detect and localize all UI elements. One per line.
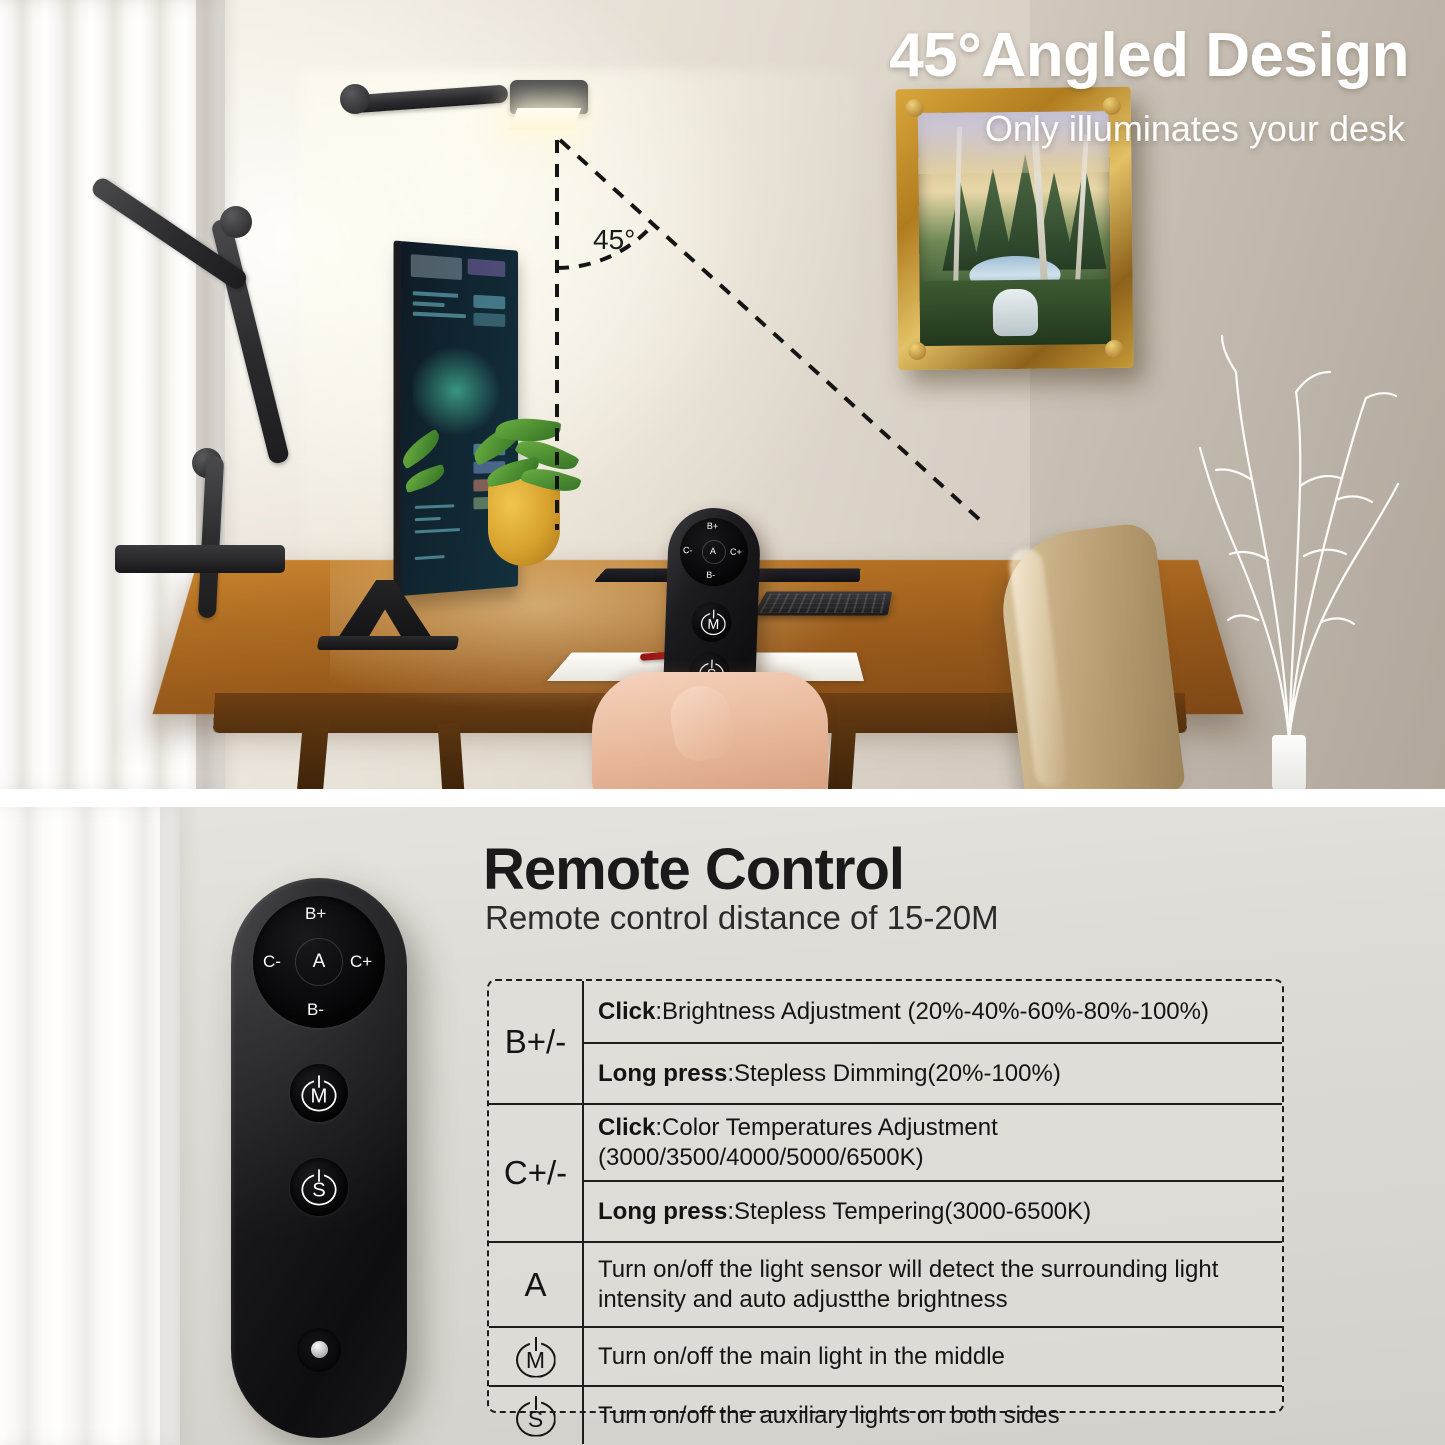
- remote-button-aux-light[interactable]: S: [290, 1158, 348, 1216]
- main-light-icon: M: [699, 607, 725, 636]
- row-text: :Brightness Adjustment (20%-40%-60%-80%-…: [655, 998, 1209, 1025]
- row-text: Turn on/off the light sensor will detect…: [598, 1256, 1218, 1312]
- row-prefix: Long press: [598, 1060, 727, 1087]
- remote-button-main-light[interactable]: M: [290, 1064, 348, 1122]
- lamp-joint-top: [340, 84, 370, 114]
- row-text: :Color Temperatures Adjustment (3000/350…: [598, 1114, 998, 1170]
- swing-arm-desk-lamp: [180, 60, 600, 680]
- remote-c-minus-label: C-: [683, 545, 693, 555]
- remote-control-device[interactable]: A B+ C- C+ B- M S: [231, 878, 407, 1438]
- table-row-key: B+/-: [489, 981, 584, 1103]
- remote-b-minus-label: B-: [706, 570, 715, 580]
- table-group: M Turn on/off the main light in the midd…: [489, 1326, 1282, 1385]
- lamp-arm-lower: [210, 218, 290, 465]
- bottom-curtain: [0, 807, 180, 1445]
- remote-button-c-plus[interactable]: C+: [350, 952, 372, 972]
- remote-a-label: A: [710, 546, 716, 556]
- bottom-title: Remote Control: [483, 836, 904, 903]
- lamp-led-glow: [509, 108, 582, 130]
- table-row: Turn on/off the light sensor will detect…: [584, 1243, 1282, 1326]
- row-prefix: Long press: [598, 1198, 727, 1225]
- table-row: Click:Color Temperatures Adjustment (300…: [584, 1105, 1282, 1180]
- row-text: :Stepless Tempering(3000-6500K): [727, 1198, 1091, 1225]
- lamp-joint-mid: [220, 206, 252, 238]
- desk-leg-right: [828, 721, 857, 793]
- table-row-key: A: [489, 1243, 584, 1326]
- panel-divider: [0, 789, 1445, 807]
- lamp-base-clamp: [115, 545, 285, 573]
- remote-button-b-plus[interactable]: B+: [305, 904, 326, 924]
- table-row: Turn on/off the main light in the middle: [584, 1328, 1282, 1385]
- remote-button-a[interactable]: A: [295, 938, 343, 986]
- row-text: :Stepless Dimming(20%-100%): [727, 1060, 1060, 1087]
- remote-a-label: A: [313, 951, 326, 973]
- table-group: S Turn on/off the auxiliary lights on bo…: [489, 1385, 1282, 1444]
- row-text: Turn on/off the auxiliary lights on both…: [598, 1402, 1060, 1429]
- table-group: C+/- Click:Color Temperatures Adjustment…: [489, 1103, 1282, 1241]
- lamp-post: [198, 456, 224, 619]
- product-infographic: 45°: [0, 0, 1445, 1445]
- keyboard: [753, 591, 892, 615]
- row-text: Turn on/off the main light in the middle: [598, 1343, 1005, 1370]
- table-row-key: M: [489, 1328, 584, 1385]
- main-light-icon: M: [513, 1334, 559, 1380]
- remote-magnet-pin: [311, 1341, 328, 1358]
- table-row-key: S: [489, 1387, 584, 1444]
- top-subheading: Only illuminates your desk: [985, 108, 1405, 150]
- table-row: Click:Brightness Adjustment (20%-40%-60%…: [584, 981, 1282, 1042]
- main-light-icon: M: [299, 1073, 339, 1113]
- aux-light-icon: S: [513, 1393, 559, 1439]
- top-scene-panel: 45°: [0, 0, 1445, 793]
- top-heading: 45°Angled Design: [889, 20, 1409, 91]
- desk-leg-left: [297, 719, 329, 793]
- remote-touchpad[interactable]: A B+ C- C+ B-: [253, 896, 385, 1028]
- table-row: Long press:Stepless Tempering(3000-6500K…: [584, 1180, 1282, 1241]
- table-group: A Turn on/off the light sensor will dete…: [489, 1241, 1282, 1326]
- angle-label: 45°: [593, 224, 635, 256]
- lamp-arm-horizontal: [348, 84, 509, 113]
- table-row: Turn on/off the auxiliary lights on both…: [584, 1387, 1282, 1444]
- branch-vase: [1272, 735, 1306, 793]
- bottom-curtain-shadow: [160, 807, 200, 1445]
- remote-button-b-minus[interactable]: B-: [307, 1000, 324, 1020]
- row-prefix: Click: [598, 998, 655, 1025]
- remote-b-plus-label: B+: [707, 521, 719, 531]
- table-row: Long press:Stepless Dimming(20%-100%): [584, 1042, 1282, 1103]
- bottom-subtitle: Remote control distance of 15-20M: [485, 899, 999, 937]
- row-prefix: Click: [598, 1114, 655, 1141]
- remote-button-c-minus[interactable]: C-: [263, 952, 281, 972]
- remote-c-plus-label: C+: [730, 547, 742, 557]
- remote-function-table: B+/- Click:Brightness Adjustment (20%-40…: [487, 979, 1284, 1413]
- table-row-key: C+/-: [489, 1105, 584, 1241]
- table-group: B+/- Click:Brightness Adjustment (20%-40…: [489, 981, 1282, 1103]
- aux-light-icon: S: [299, 1167, 339, 1207]
